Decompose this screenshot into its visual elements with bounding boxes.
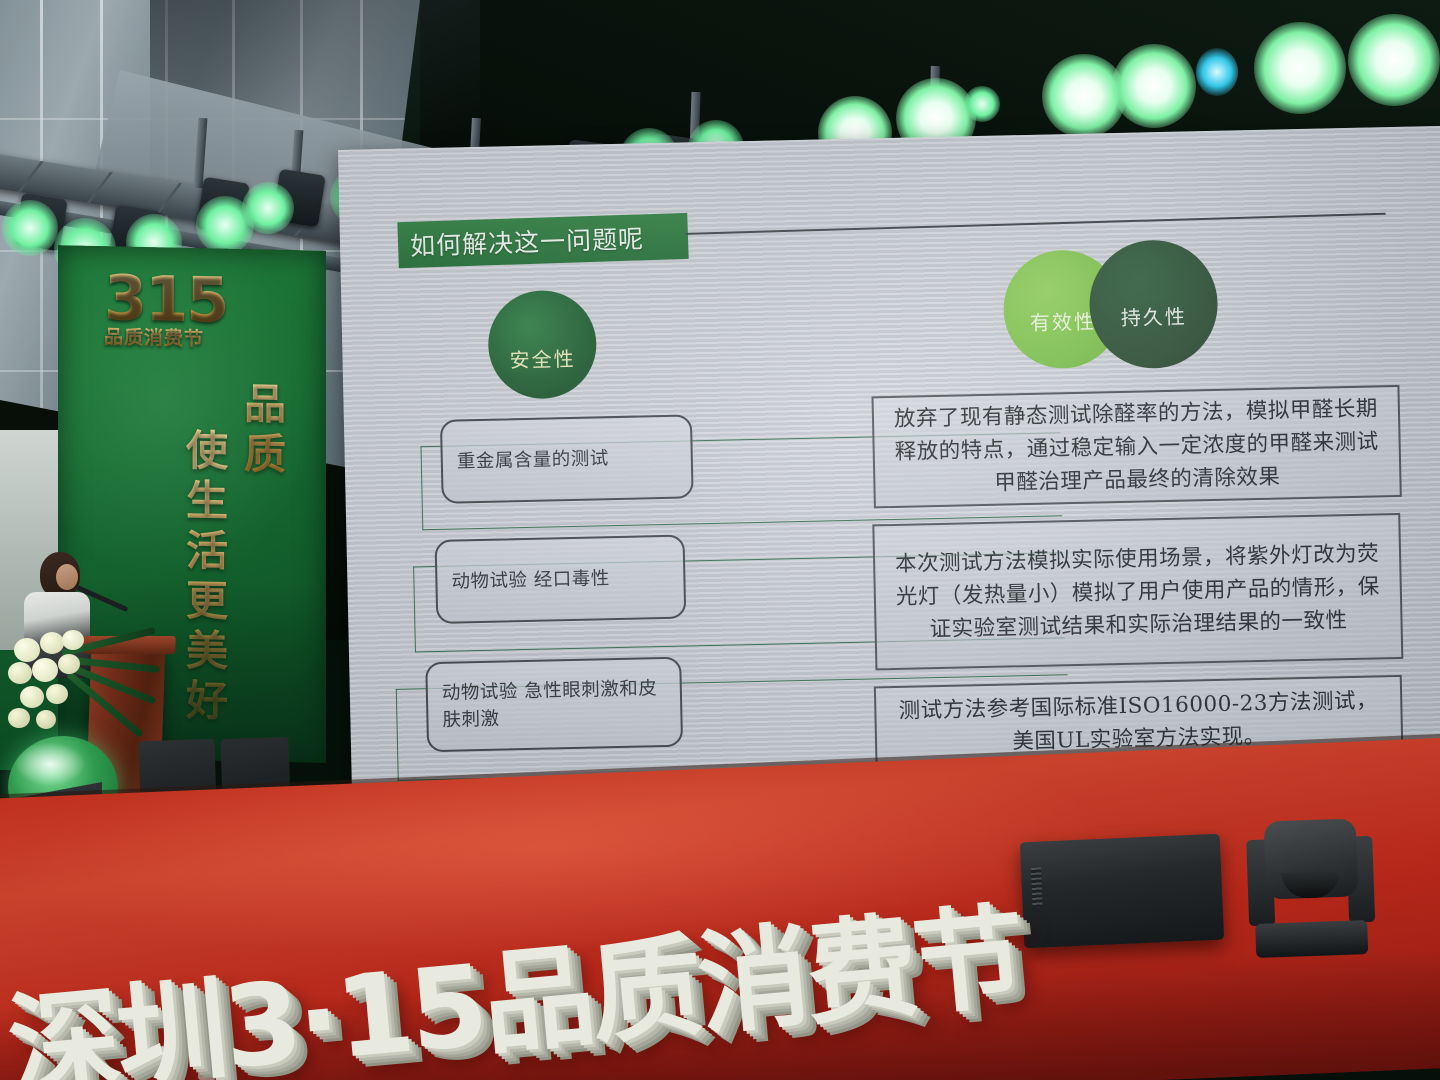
right-panel-text: 放弃了现有静态测试除醛率的方法，模拟甲醛长期释放的特点，通过稳定输入一定浓度的甲…: [888, 392, 1386, 502]
slide-title: 如何解决这一问题呢: [410, 219, 645, 263]
right-panel-text: 本次测试方法模拟实际使用场景，将紫外灯改为荧光灯（发热量小）模拟了用户使用产品的…: [889, 537, 1387, 647]
stage-light-beam-cyan: [1196, 48, 1238, 96]
projection-screen: 如何解决这一问题呢 安全性 有效性 持久性 重金属含量的测试 动物试验 经: [338, 126, 1440, 830]
stage-photo: 315 品质消费节 品质 使生活更美好 如何解决这一问题呢 安全性 有效性 持久…: [0, 0, 1440, 1080]
stage-light-beam: [1348, 14, 1440, 106]
moving-head-light: [1246, 818, 1377, 962]
stage-light-beam: [1254, 22, 1346, 114]
projection-screen-surface: 如何解决这一问题呢 安全性 有效性 持久性 重金属含量的测试 动物试验 经: [338, 126, 1440, 830]
flower-arrangement: [6, 628, 156, 748]
left-item-text: 重金属含量的测试: [457, 445, 610, 475]
durability-circle: 持久性: [1088, 239, 1219, 370]
stage-light-beam: [242, 182, 294, 234]
slide-title-banner: 如何解决这一问题呢: [397, 213, 688, 268]
safety-circle: 安全性: [487, 289, 597, 399]
right-panel: 放弃了现有静态测试除醛率的方法，模拟甲醛长期释放的特点，通过稳定输入一定浓度的甲…: [872, 385, 1402, 508]
effectiveness-circle-label: 有效性: [1029, 283, 1096, 335]
festival-logo: 315 品质消费节: [104, 268, 304, 364]
safety-circle-label: 安全性: [509, 316, 576, 372]
durability-circle-label: 持久性: [1120, 278, 1187, 330]
floor-monitor-speaker: [1020, 834, 1224, 949]
left-item-text: 动物试验 经口毒性: [451, 565, 610, 595]
right-panel: 本次测试方法模拟实际使用场景，将紫外灯改为荧光灯（发热量小）模拟了用户使用产品的…: [872, 513, 1403, 670]
backdrop-vertical-text-right: 品质: [244, 379, 290, 480]
festival-logo-subtitle: 品质消费节: [104, 322, 304, 353]
stage-light-beam: [1112, 44, 1196, 128]
left-item-text: 动物试验 急性眼刺激和皮肤刺激: [442, 675, 667, 734]
left-item-box: 重金属含量的测试: [440, 414, 694, 503]
left-item-box: 动物试验 经口毒性: [435, 535, 687, 624]
stage-light-beam: [964, 86, 1000, 122]
slide-title-rule: [686, 213, 1386, 235]
podium-logo-glare: [14, 742, 86, 786]
stage-light-beam: [2, 200, 58, 256]
left-item-box: 动物试验 急性眼刺激和皮肤刺激: [425, 657, 683, 753]
